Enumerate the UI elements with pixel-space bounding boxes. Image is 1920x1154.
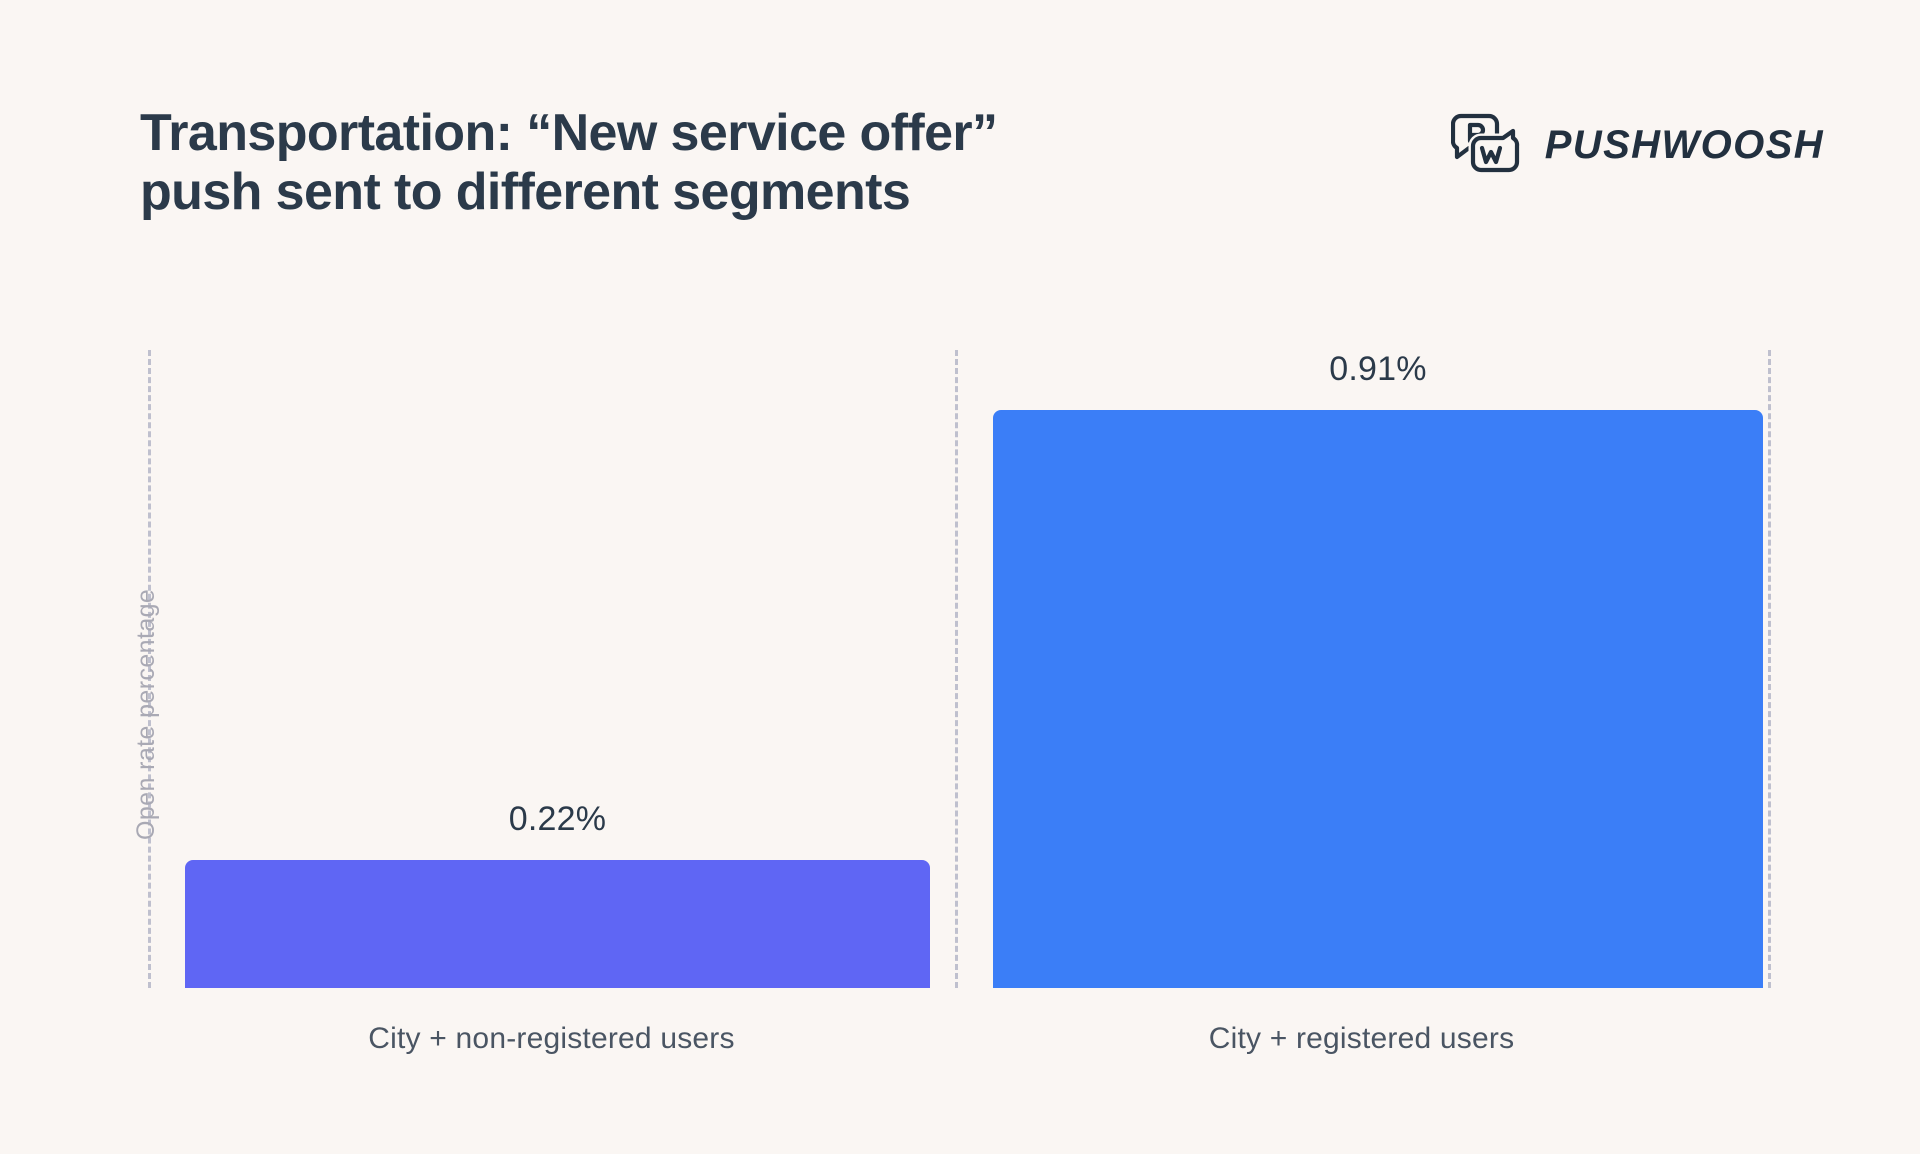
y-axis-label: Open rate percentage bbox=[132, 400, 161, 840]
bar-city-registered-users[interactable] bbox=[993, 410, 1763, 988]
bar-chart: Open rate percentage 0.22% 0.91% City + … bbox=[0, 0, 1920, 1154]
x-axis-category-label-0: City + non-registered users bbox=[148, 1022, 955, 1056]
bar-city-non-registered-users[interactable] bbox=[185, 860, 930, 988]
x-axis-category-label-1: City + registered users bbox=[955, 1022, 1768, 1056]
axis-rule-right bbox=[1768, 350, 1771, 988]
bar-value-label-0: 0.22% bbox=[185, 800, 930, 839]
axis-rule-middle bbox=[955, 350, 958, 988]
bar-value-label-1: 0.91% bbox=[993, 350, 1763, 389]
